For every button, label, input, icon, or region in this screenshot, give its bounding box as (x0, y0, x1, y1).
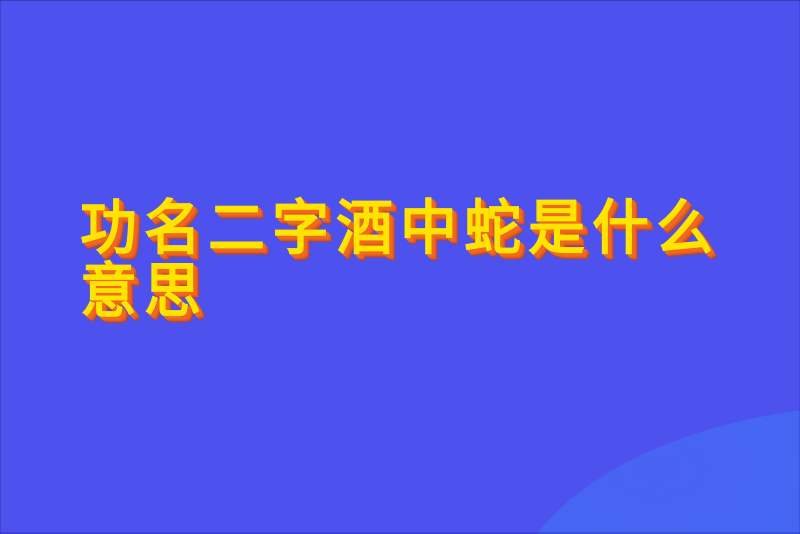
page-title: 功名二字酒中蛇是什么 意思 (80, 196, 780, 322)
page-title-line-1: 功名二字酒中蛇是什么 (80, 196, 780, 262)
title-card-canvas: 功名二字酒中蛇是什么 意思 (0, 0, 800, 534)
decorative-circle (505, 405, 800, 534)
page-title-line-2: 意思 (80, 259, 780, 325)
